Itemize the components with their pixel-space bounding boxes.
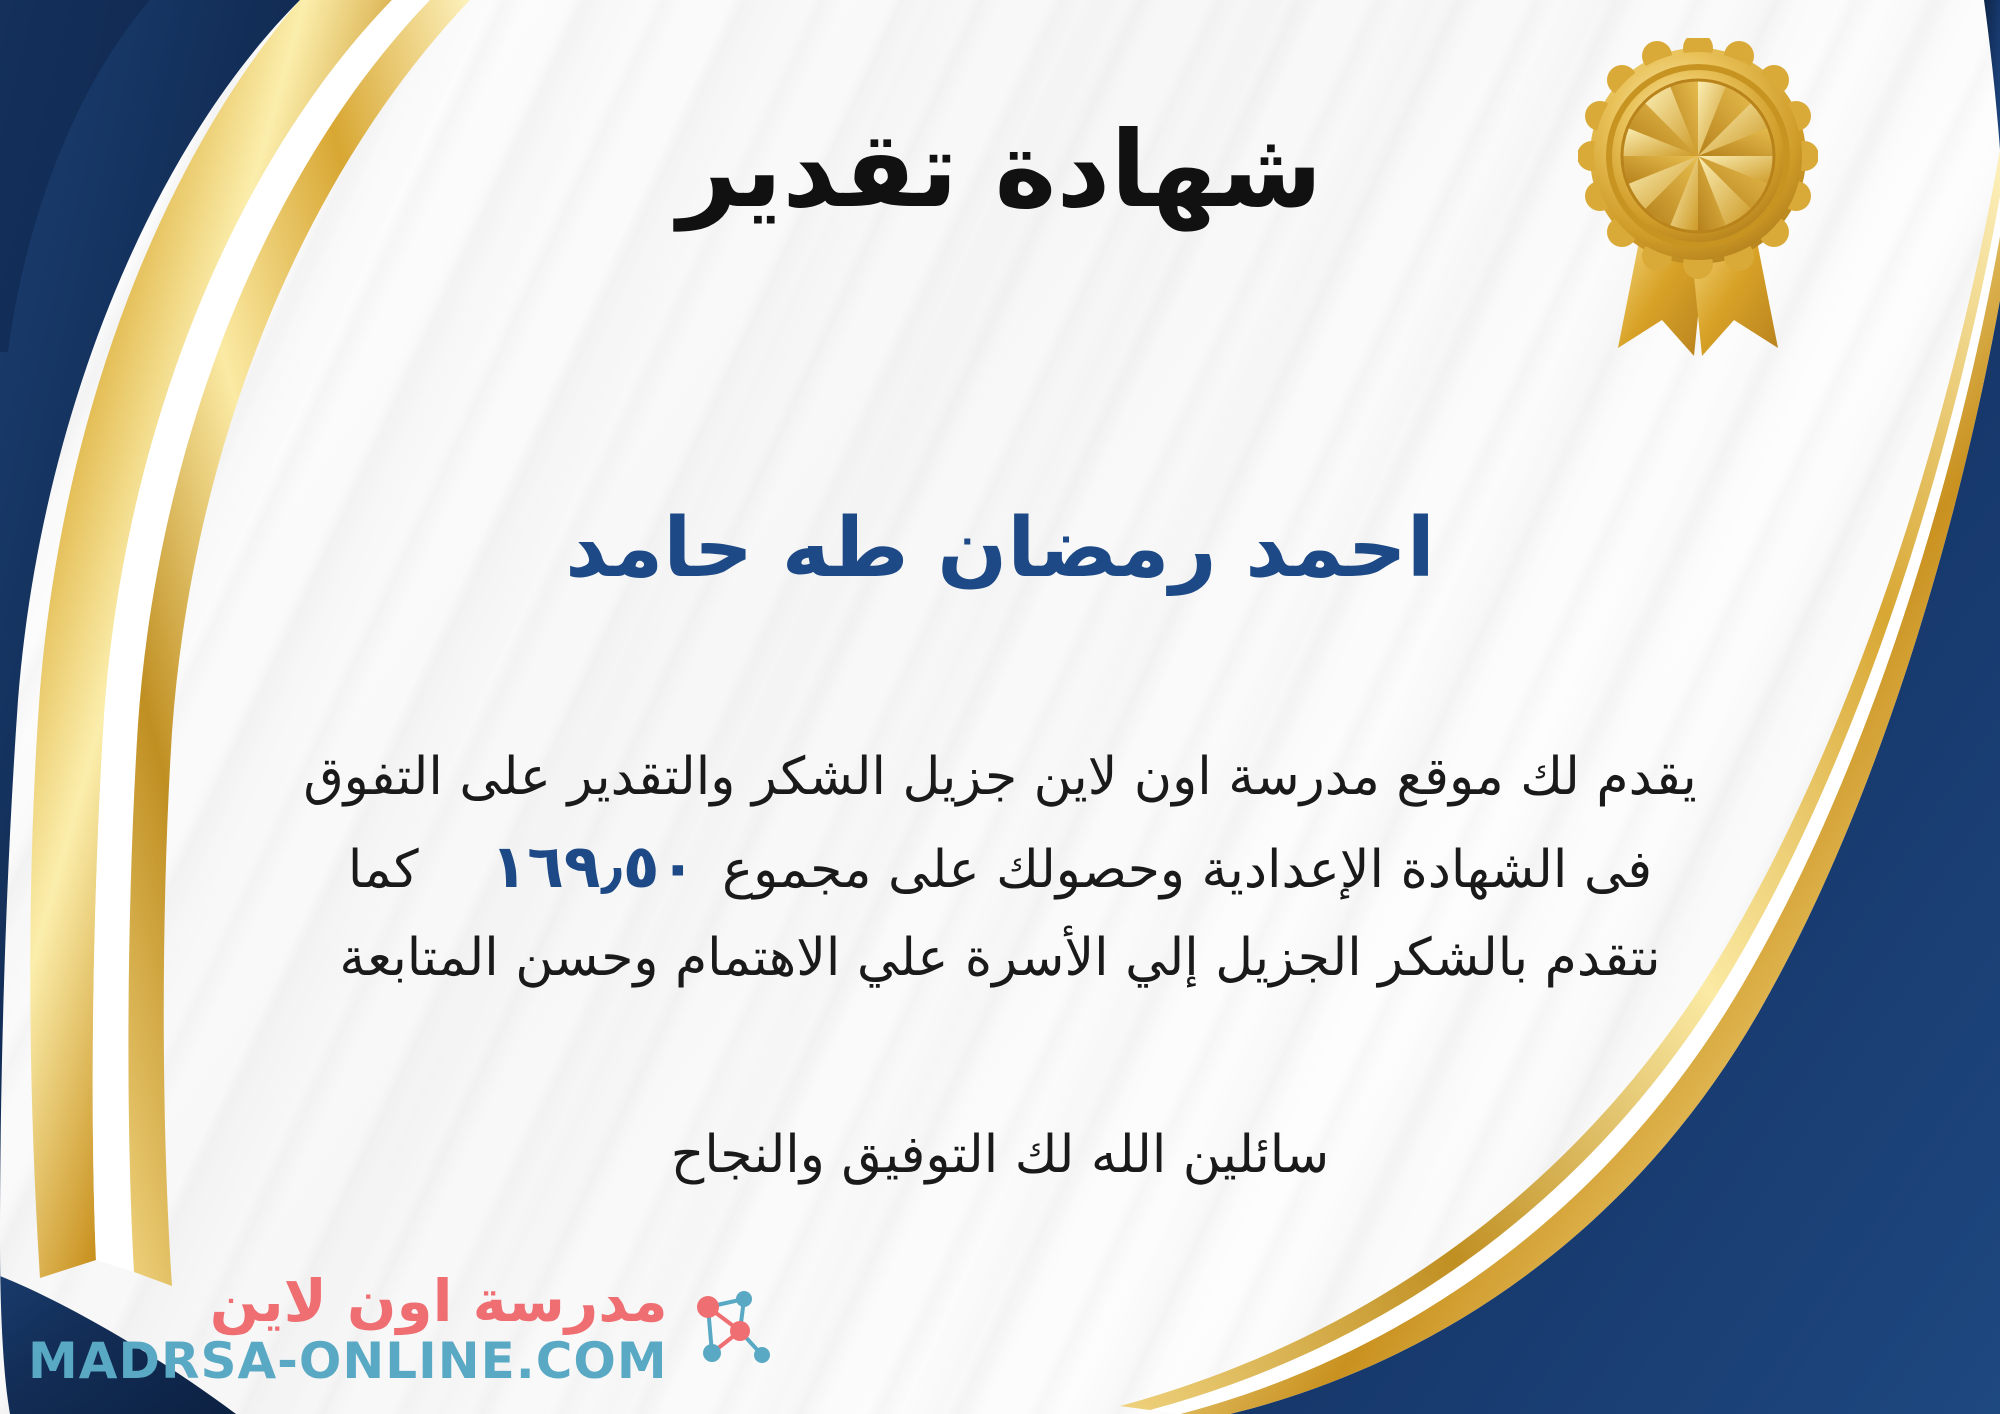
gold-award-seal-icon (1578, 38, 1818, 368)
total-score-value: ١٦٩٫٥٠ (465, 832, 723, 902)
brand-arabic-name: مدرسة اون لاين (210, 1272, 668, 1330)
brand-logo[interactable]: مدرسة اون لاين MADRSA-ONLINE.COM (28, 1272, 774, 1386)
closing-line: سائلين الله لك التوفيق والنجاح (0, 1125, 2000, 1185)
network-nodes-icon (682, 1281, 774, 1377)
body-line-1: يقدم لك موقع مدرسة اون لاين جزيل الشكر و… (120, 735, 1880, 819)
body-line-2-suffix: كما (348, 840, 419, 900)
body-line-2: فى الشهادة الإعدادية وحصولك على مجموع١٦٩… (120, 819, 1880, 916)
brand-website-url[interactable]: MADRSA-ONLINE.COM (28, 1336, 668, 1386)
body-line-2-prefix: فى الشهادة الإعدادية وحصولك على مجموع (722, 840, 1652, 900)
recipient-name: احمد رمضان طه حامد (0, 500, 2000, 598)
certificate-body: يقدم لك موقع مدرسة اون لاين جزيل الشكر و… (120, 735, 1880, 1001)
certificate-canvas: شهادة تقدير احمد رمضان طه حامد يقدم لك م… (0, 0, 2000, 1414)
body-line-3: نتقدم بالشكر الجزيل إلي الأسرة علي الاهت… (120, 916, 1880, 1000)
